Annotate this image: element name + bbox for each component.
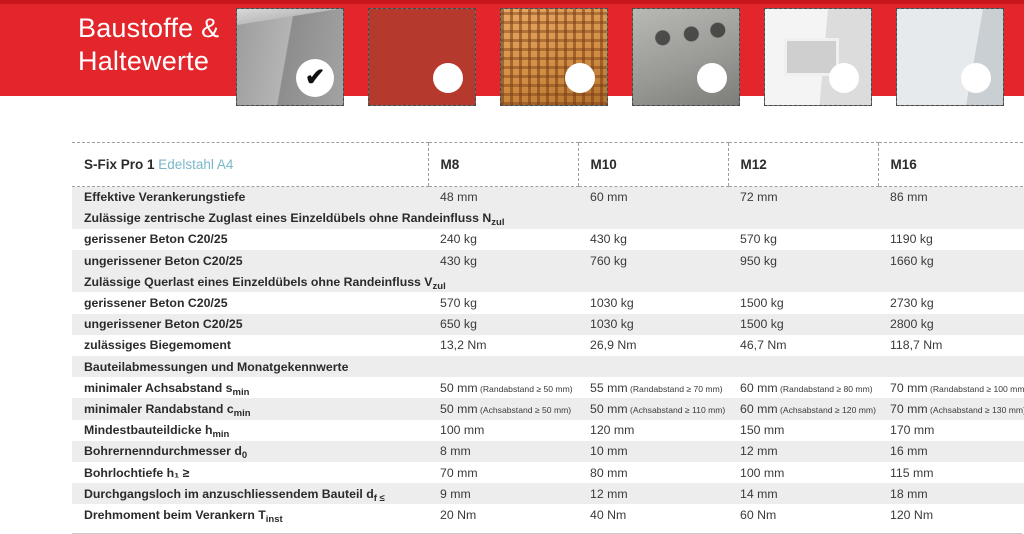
material-tile-concrete[interactable]: ✔ bbox=[236, 8, 344, 106]
row-label-subscript: zul bbox=[433, 281, 446, 292]
row-label: gerissener Beton C20/25 bbox=[72, 229, 428, 250]
cell-m12: 100 mm bbox=[728, 462, 878, 483]
cell-m8: 100 mm bbox=[428, 420, 578, 441]
product-title-cell: S-Fix Pro 1 Edelstahl A4 bbox=[72, 143, 428, 187]
spec-table-wrapper: S-Fix Pro 1 Edelstahl A4 M8 M10 M12 M16 … bbox=[72, 142, 1022, 526]
table-section-row: Zulässige zentrische Zuglast eines Einze… bbox=[72, 208, 1024, 229]
cell-m16: 18 mm bbox=[878, 483, 1024, 504]
cell-m16: 1190 kg bbox=[878, 229, 1024, 250]
row-label: Effektive Verankerungstiefe bbox=[72, 187, 428, 208]
cell-m8: 570 kg bbox=[428, 292, 578, 313]
cell-m8: 9 mm bbox=[428, 483, 578, 504]
product-name: S-Fix Pro 1 bbox=[84, 157, 155, 172]
table-row: minimaler Randabstand cmin50 mm (Achsabs… bbox=[72, 398, 1024, 419]
section-spacer bbox=[428, 356, 1024, 377]
table-row: Bohrernenndurchmesser d08 mm10 mm12 mm16… bbox=[72, 441, 1024, 462]
clay-block-texture-icon bbox=[501, 9, 607, 105]
table-row: ungerissener Beton C20/25650 kg1030 kg15… bbox=[72, 314, 1024, 335]
cell-m12: 1500 kg bbox=[728, 314, 878, 335]
cell-note: (Randabstand ≥ 70 mm) bbox=[628, 384, 723, 394]
page-title: Baustoffe & Haltewerte bbox=[78, 12, 219, 78]
cell-m12: 60 mm (Randabstand ≥ 80 mm) bbox=[728, 377, 878, 398]
table-row: Mindestbauteildicke hmin100 mm120 mm150 … bbox=[72, 420, 1024, 441]
row-label: Durchgangsloch im anzuschliessendem Baut… bbox=[72, 483, 428, 504]
cell-m10: 80 mm bbox=[578, 462, 728, 483]
column-header-m16: M16 bbox=[878, 143, 1024, 187]
section-spacer bbox=[428, 208, 1024, 229]
cell-m10: 120 mm bbox=[578, 420, 728, 441]
cell-m16: 115 mm bbox=[878, 462, 1024, 483]
row-label: Bauteilabmessungen und Monatgekennwerte bbox=[72, 356, 428, 377]
row-label-subscript: zul bbox=[491, 217, 504, 228]
column-header-m10: M10 bbox=[578, 143, 728, 187]
spec-table: S-Fix Pro 1 Edelstahl A4 M8 M10 M12 M16 … bbox=[72, 142, 1024, 526]
marker-dot-icon bbox=[433, 63, 463, 93]
header-banner: Baustoffe & Haltewerte ✔ bbox=[0, 0, 1024, 96]
table-row: Drehmoment beim Verankern Tinst20 Nm40 N… bbox=[72, 504, 1024, 525]
cell-note: (Achsabstand ≥ 130 mm) bbox=[928, 405, 1024, 415]
cell-m16: 70 mm (Randabstand ≥ 100 mm) bbox=[878, 377, 1024, 398]
cell-m12: 950 kg bbox=[728, 250, 878, 271]
brick-texture-icon bbox=[369, 9, 475, 105]
row-label: gerissener Beton C20/25 bbox=[72, 292, 428, 313]
row-label: ungerissener Beton C20/25 bbox=[72, 314, 428, 335]
table-row: gerissener Beton C20/25570 kg1030 kg1500… bbox=[72, 292, 1024, 313]
cell-m10: 12 mm bbox=[578, 483, 728, 504]
material-tile-brick[interactable] bbox=[368, 8, 476, 106]
cell-m16: 120 Nm bbox=[878, 504, 1024, 525]
marker-dot-icon bbox=[829, 63, 859, 93]
cell-m12: 1500 kg bbox=[728, 292, 878, 313]
cell-m12: 60 mm (Achsabstand ≥ 120 mm) bbox=[728, 398, 878, 419]
row-label: minimaler Achsabstand smin bbox=[72, 377, 428, 398]
cell-m16: 170 mm bbox=[878, 420, 1024, 441]
cell-m16: 86 mm bbox=[878, 187, 1024, 208]
spec-table-body: Effektive Verankerungstiefe48 mm60 mm72 … bbox=[72, 187, 1024, 526]
cell-m8: 430 kg bbox=[428, 250, 578, 271]
cell-m12: 60 Nm bbox=[728, 504, 878, 525]
cell-m16: 16 mm bbox=[878, 441, 1024, 462]
banner-top-strip bbox=[0, 0, 1024, 4]
aerated-block-texture-icon bbox=[765, 9, 871, 105]
product-material: Edelstahl A4 bbox=[158, 157, 233, 172]
row-label-subscript: inst bbox=[266, 514, 283, 525]
cell-m12: 72 mm bbox=[728, 187, 878, 208]
table-row: minimaler Achsabstand smin50 mm (Randabs… bbox=[72, 377, 1024, 398]
material-tile-plasterboard[interactable] bbox=[896, 8, 1004, 106]
table-header-row: S-Fix Pro 1 Edelstahl A4 M8 M10 M12 M16 bbox=[72, 143, 1024, 187]
cell-m8: 70 mm bbox=[428, 462, 578, 483]
cell-m10: 40 Nm bbox=[578, 504, 728, 525]
column-header-m12: M12 bbox=[728, 143, 878, 187]
row-label-subscript: 0 bbox=[242, 450, 247, 461]
cell-m10: 430 kg bbox=[578, 229, 728, 250]
marker-dot-icon bbox=[961, 63, 991, 93]
row-label: Bohrlochtiefe h₁ ≥ bbox=[72, 462, 428, 483]
column-header-m8: M8 bbox=[428, 143, 578, 187]
row-label-subscript: f ≤ bbox=[374, 493, 385, 504]
cell-note: (Randabstand ≥ 100 mm) bbox=[928, 384, 1024, 394]
cell-m16: 1660 kg bbox=[878, 250, 1024, 271]
marker-dot-icon bbox=[697, 63, 727, 93]
cell-m12: 12 mm bbox=[728, 441, 878, 462]
cell-m10: 1030 kg bbox=[578, 292, 728, 313]
cell-m8: 50 mm (Achsabstand ≥ 50 mm) bbox=[428, 398, 578, 419]
cell-m8: 20 Nm bbox=[428, 504, 578, 525]
cell-m12: 570 kg bbox=[728, 229, 878, 250]
material-tile-hollow-block[interactable] bbox=[632, 8, 740, 106]
cell-m8: 240 kg bbox=[428, 229, 578, 250]
row-label: minimaler Randabstand cmin bbox=[72, 398, 428, 419]
table-section-row: Zulässige Querlast eines Einzeldübels oh… bbox=[72, 271, 1024, 292]
row-label: zulässiges Biegemoment bbox=[72, 335, 428, 356]
spec-table-head: S-Fix Pro 1 Edelstahl A4 M8 M10 M12 M16 bbox=[72, 143, 1024, 187]
cell-m16: 2730 kg bbox=[878, 292, 1024, 313]
table-row: gerissener Beton C20/25240 kg430 kg570 k… bbox=[72, 229, 1024, 250]
cell-m12: 150 mm bbox=[728, 420, 878, 441]
marker-dot-icon bbox=[565, 63, 595, 93]
row-label-subscript: min bbox=[212, 429, 229, 440]
cell-m16: 2800 kg bbox=[878, 314, 1024, 335]
cell-m8: 50 mm (Randabstand ≥ 50 mm) bbox=[428, 377, 578, 398]
section-spacer bbox=[428, 271, 1024, 292]
cell-note: (Achsabstand ≥ 120 mm) bbox=[778, 405, 876, 415]
cell-m8: 13,2 Nm bbox=[428, 335, 578, 356]
hollow-block-texture-icon bbox=[633, 9, 739, 105]
cell-note: (Randabstand ≥ 80 mm) bbox=[778, 384, 873, 394]
cell-m10: 10 mm bbox=[578, 441, 728, 462]
row-label: Bohrernenndurchmesser d0 bbox=[72, 441, 428, 462]
table-row: zulässiges Biegemoment13,2 Nm26,9 Nm46,7… bbox=[72, 335, 1024, 356]
cell-m16: 118,7 Nm bbox=[878, 335, 1024, 356]
table-row: Effektive Verankerungstiefe48 mm60 mm72 … bbox=[72, 187, 1024, 208]
material-tile-strip: ✔ bbox=[236, 8, 1024, 106]
table-row: ungerissener Beton C20/25430 kg760 kg950… bbox=[72, 250, 1024, 271]
row-label: ungerissener Beton C20/25 bbox=[72, 250, 428, 271]
selected-check-icon: ✔ bbox=[296, 59, 334, 97]
cell-note: (Achsabstand ≥ 110 mm) bbox=[628, 405, 726, 415]
cell-m16: 70 mm (Achsabstand ≥ 130 mm) bbox=[878, 398, 1024, 419]
cell-m12: 46,7 Nm bbox=[728, 335, 878, 356]
cell-m10: 1030 kg bbox=[578, 314, 728, 335]
row-label-subscript: min bbox=[234, 408, 251, 419]
cell-m10: 50 mm (Achsabstand ≥ 110 mm) bbox=[578, 398, 728, 419]
cell-m10: 26,9 Nm bbox=[578, 335, 728, 356]
cell-m12: 14 mm bbox=[728, 483, 878, 504]
row-label: Zulässige Querlast eines Einzeldübels oh… bbox=[72, 271, 428, 292]
cell-note: (Randabstand ≥ 50 mm) bbox=[478, 384, 573, 394]
row-label: Drehmoment beim Verankern Tinst bbox=[72, 504, 428, 525]
cell-note: (Achsabstand ≥ 50 mm) bbox=[478, 405, 572, 415]
cell-m10: 760 kg bbox=[578, 250, 728, 271]
cell-m8: 650 kg bbox=[428, 314, 578, 335]
row-label-subscript: min bbox=[233, 387, 250, 398]
material-tile-clay-block[interactable] bbox=[500, 8, 608, 106]
row-label: Mindestbauteildicke hmin bbox=[72, 420, 428, 441]
cell-m10: 60 mm bbox=[578, 187, 728, 208]
table-section-row: Bauteilabmessungen und Monatgekennwerte bbox=[72, 356, 1024, 377]
cell-m8: 48 mm bbox=[428, 187, 578, 208]
plasterboard-texture-icon bbox=[897, 9, 1003, 105]
table-row: Bohrlochtiefe h₁ ≥70 mm80 mm100 mm115 mm bbox=[72, 462, 1024, 483]
material-tile-aerated-block[interactable] bbox=[764, 8, 872, 106]
row-label: Zulässige zentrische Zuglast eines Einze… bbox=[72, 208, 428, 229]
cell-m8: 8 mm bbox=[428, 441, 578, 462]
table-row: Durchgangsloch im anzuschliessendem Baut… bbox=[72, 483, 1024, 504]
cell-m10: 55 mm (Randabstand ≥ 70 mm) bbox=[578, 377, 728, 398]
